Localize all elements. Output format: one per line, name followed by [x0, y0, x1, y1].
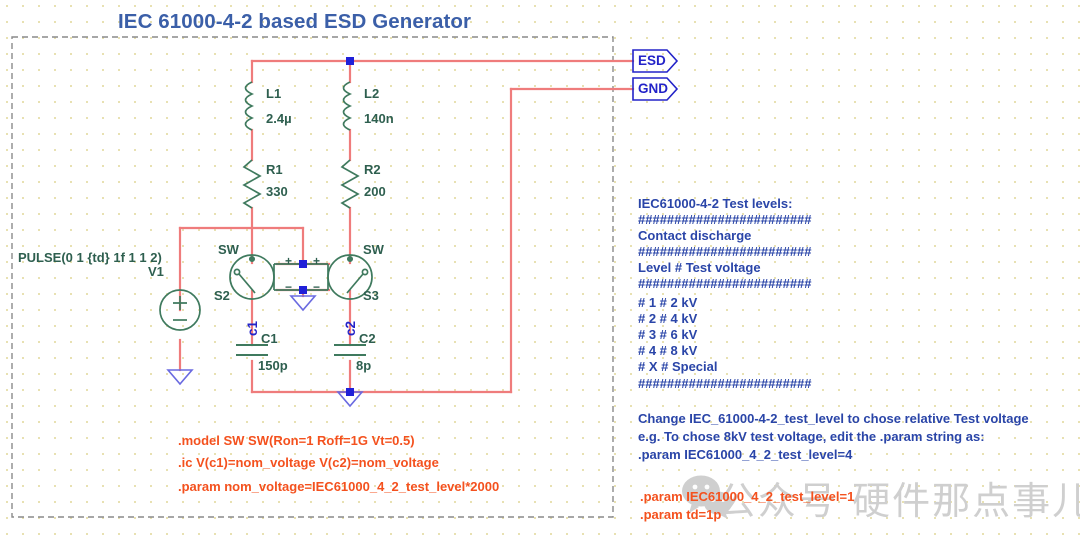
component-value-c1: 150p	[258, 358, 288, 373]
capacitor-symbols	[236, 345, 366, 355]
instructions-line-2: .param IEC61000_4_2_test_level=4	[638, 447, 852, 462]
switch-terminal-plus-left: +	[285, 254, 292, 268]
component-label-v1: V1	[148, 264, 164, 279]
switch-terminal-minus-left: −	[285, 280, 292, 294]
component-label-c2: C2	[359, 331, 376, 346]
instructions-line-0: Change IEC_61000-4-2_test_level to chose…	[638, 411, 1029, 426]
net-label-c2: c2	[343, 321, 358, 336]
test-levels-line-7: # 2 # 4 kV	[638, 311, 697, 326]
component-type-s2: SW	[218, 242, 239, 257]
spice-directive-2[interactable]: .param nom_voltage=IEC61000_4_2_test_lev…	[178, 479, 499, 494]
component-label-s3: S3	[363, 288, 379, 303]
component-value-v1: PULSE(0 1 {td} 1f 1 1 2)	[18, 250, 162, 265]
test-levels-line-8: # 3 # 6 kV	[638, 327, 697, 342]
component-label-s2: S2	[214, 288, 230, 303]
test-levels-line-11: ########################	[638, 376, 812, 391]
component-label-l1: L1	[266, 86, 281, 101]
ground-symbols	[168, 296, 362, 406]
component-label-l2: L2	[364, 86, 379, 101]
test-levels-line-0: IEC61000-4-2 Test levels:	[638, 196, 792, 211]
test-levels-line-10: # X # Special	[638, 359, 718, 374]
wire-group	[180, 61, 633, 392]
resistor-symbols	[244, 160, 358, 208]
inductor-symbols	[246, 82, 351, 130]
test-levels-line-4: Level # Test voltage	[638, 260, 761, 275]
component-label-r2: R2	[364, 162, 381, 177]
component-value-c2: 8p	[356, 358, 371, 373]
component-value-l2: 140n	[364, 111, 394, 126]
instructions-line-1: e.g. To chose 8kV test voltage, edit the…	[638, 429, 985, 444]
test-levels-line-5: ########################	[638, 276, 812, 291]
component-value-r2: 200	[364, 184, 386, 199]
page-title: IEC 61000-4-2 based ESD Generator	[118, 10, 471, 34]
test-levels-line-6: # 1 # 2 kV	[638, 295, 697, 310]
test-levels-line-1: ########################	[638, 212, 812, 227]
port-label-esd[interactable]: ESD	[638, 53, 666, 68]
spice-param-1[interactable]: .param td=1p	[640, 507, 721, 522]
component-label-r1: R1	[266, 162, 283, 177]
voltage-source-symbol	[160, 290, 200, 330]
spice-directive-0[interactable]: .model SW SW(Ron=1 Roff=1G Vt=0.5)	[178, 433, 415, 448]
net-label-c1: c1	[245, 321, 260, 336]
component-label-c1: C1	[261, 331, 278, 346]
switch-terminal-plus-right: +	[313, 254, 320, 268]
schematic-canvas: IEC 61000-4-2 based ESD Generator L1 2.4…	[0, 0, 1080, 543]
spice-param-0[interactable]: .param IEC61000_4_2_test_level=1	[640, 489, 854, 504]
component-value-l1: 2.4µ	[266, 111, 292, 126]
switch-terminal-minus-right: −	[313, 280, 320, 294]
test-levels-line-3: ########################	[638, 244, 812, 259]
port-label-gnd[interactable]: GND	[638, 81, 668, 96]
component-type-s3: SW	[363, 242, 384, 257]
spice-directive-1[interactable]: .ic V(c1)=nom_voltage V(c2)=nom_voltage	[178, 455, 439, 470]
test-levels-line-2: Contact discharge	[638, 228, 751, 243]
test-levels-line-9: # 4 # 8 kV	[638, 343, 697, 358]
component-value-r1: 330	[266, 184, 288, 199]
